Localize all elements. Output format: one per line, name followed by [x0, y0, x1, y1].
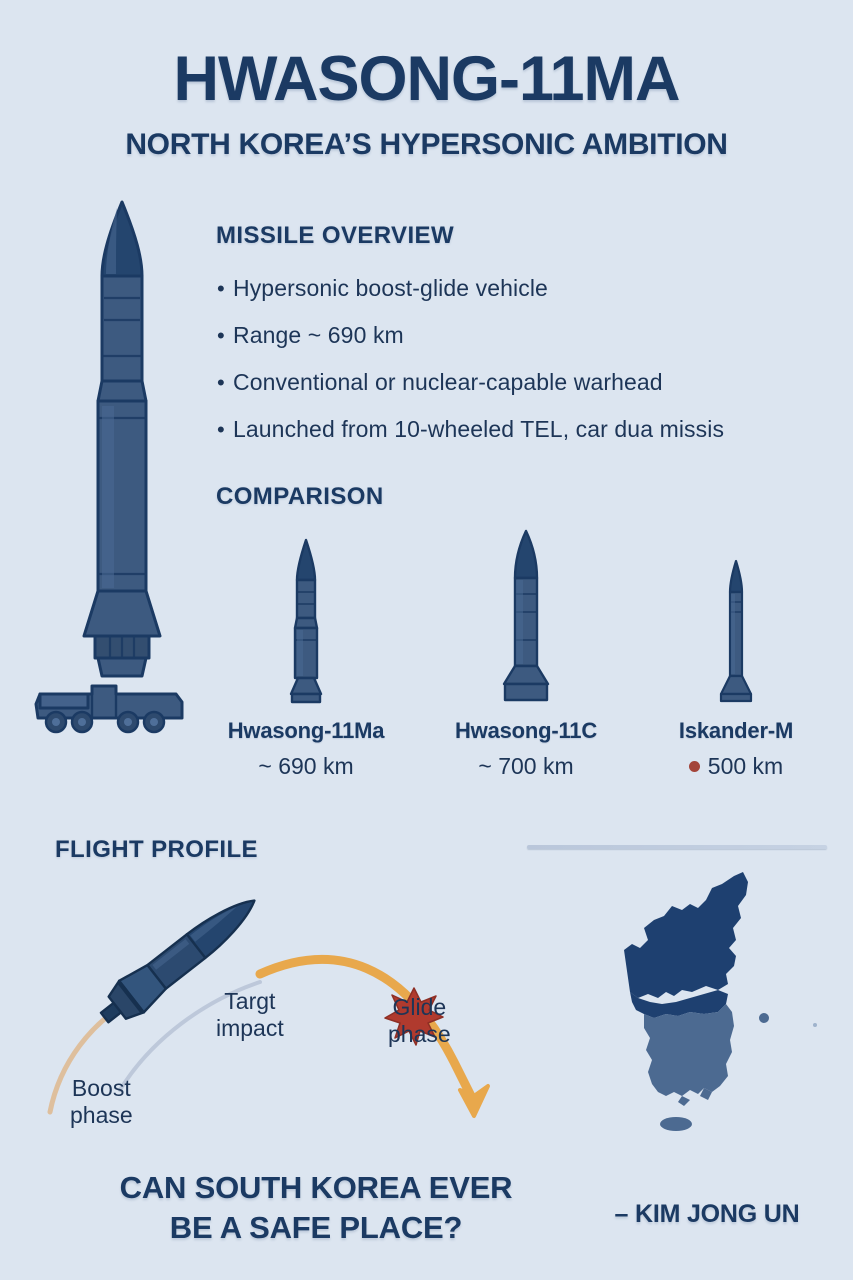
missile-overview-list: •Hypersonic boost-glide vehicle•Range ~ …: [217, 275, 817, 463]
iskander-m-silhouette: [636, 528, 836, 706]
comparison-range: 500 km: [636, 753, 836, 780]
section-divider-rule: [527, 845, 827, 849]
attribution-text: – KIM JONG UN: [592, 1200, 822, 1229]
bullet-dot-icon: •: [217, 325, 233, 347]
closing-question: CAN SOUTH KOREA EVERBE A SAFE PLACE?: [56, 1168, 576, 1247]
overview-bullet-item: •Conventional or nuclear-capable warhead: [217, 369, 817, 396]
comparison-name: Iskander-M: [636, 718, 836, 744]
comparison-item-iskander-m: Iskander-M 500 km: [636, 528, 836, 780]
overview-bullet-text: Launched from 10-wheeled TEL, car dua mi…: [233, 416, 817, 443]
dokdo-island: [813, 1023, 817, 1027]
comparison-range-text: ~ 690 km: [258, 753, 353, 780]
tel-launcher-vehicle: [30, 676, 190, 738]
comparison-heading: COMPARISON: [216, 483, 384, 511]
jeju-island: [660, 1117, 692, 1131]
flight-profile-heading: FLIGHT PROFILE: [55, 836, 258, 864]
comparison-range: ~ 690 km: [206, 753, 406, 780]
label-glide-phase: Glidephase: [388, 994, 451, 1048]
overview-bullet-item: •Range ~ 690 km: [217, 322, 817, 349]
comparison-name: Hwasong-11C: [426, 718, 626, 744]
hwasong-11c-silhouette: [426, 528, 626, 706]
label-boost-phase: Boostphase: [70, 1075, 133, 1129]
north-korea-region: [624, 872, 748, 1018]
impact-arrowhead-icon: [460, 1086, 488, 1116]
korean-peninsula-map: [586, 862, 826, 1162]
bullet-dot-icon: •: [217, 419, 233, 441]
page-subtitle: NORTH KOREA’S HYPERSONIC AMBITION: [0, 128, 853, 162]
comparison-range-text: 500 km: [708, 753, 783, 780]
bullet-dot-icon: •: [217, 278, 233, 300]
comparison-item-hwasong-11ma: Hwasong-11Ma ~ 690 km: [206, 528, 406, 780]
infographic-canvas: HWASONG-11MA NORTH KOREA’S HYPERSONIC AM…: [0, 0, 853, 1280]
overview-bullet-item: •Hypersonic boost-glide vehicle: [217, 275, 817, 302]
ulleungdo-island: [759, 1013, 769, 1023]
label-target-impact: Targtimpact: [216, 988, 284, 1042]
missile-overview-heading: MISSILE OVERVIEW: [216, 222, 454, 250]
hwasong-11ma-large-illustration: [62, 196, 182, 686]
overview-bullet-text: Range ~ 690 km: [233, 322, 817, 349]
page-title: HWASONG-11MA: [0, 46, 853, 112]
south-korea-region: [644, 1004, 817, 1131]
comparison-item-hwasong-11c: Hwasong-11C ~ 700 km: [426, 528, 626, 780]
overview-bullet-item: •Launched from 10-wheeled TEL, car dua m…: [217, 416, 817, 443]
comparison-range-text: ~ 700 km: [478, 753, 573, 780]
comparison-range: ~ 700 km: [426, 753, 626, 780]
comparison-name: Hwasong-11Ma: [206, 718, 406, 744]
hwasong-11ma-silhouette: [206, 528, 406, 706]
overview-bullet-text: Conventional or nuclear-capable warhead: [233, 369, 817, 396]
range-marker-dot-icon: [689, 761, 700, 772]
bullet-dot-icon: •: [217, 372, 233, 394]
overview-bullet-text: Hypersonic boost-glide vehicle: [233, 275, 817, 302]
